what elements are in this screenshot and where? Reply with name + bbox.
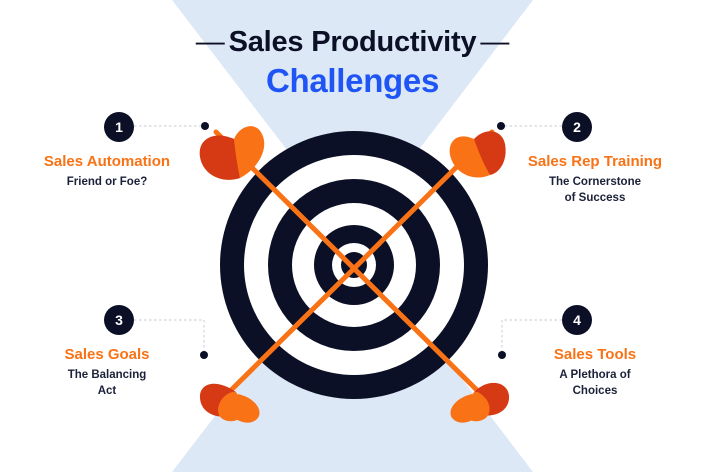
callout-title-2: Sales Rep Training — [500, 153, 690, 171]
title-dash-left: — — [192, 26, 229, 59]
callout-subtitle-4: A Plethora of Choices — [500, 368, 690, 399]
callout-title-1: Sales Automation — [12, 153, 202, 171]
title-text-sales-productivity: Sales Productivity — [229, 26, 477, 58]
callout-badge-4: 4 — [562, 305, 592, 335]
callout-sales-automation[interactable]: 1 Sales Automation Friend or Foe? — [12, 112, 202, 191]
title-text-challenges: Challenges — [0, 61, 705, 101]
callout-sales-goals[interactable]: 3 Sales Goals The Balancing Act — [12, 305, 202, 399]
callout-badge-3: 3 — [104, 305, 134, 335]
callout-badge-1: 1 — [104, 112, 134, 142]
callout-title-3: Sales Goals — [12, 346, 202, 364]
callout-subtitle-2: The Cornerstone of Success — [500, 175, 690, 206]
callout-sales-tools[interactable]: 4 Sales Tools A Plethora of Choices — [500, 305, 690, 399]
callout-subtitle-3: The Balancing Act — [12, 368, 202, 399]
callout-subtitle-1: Friend or Foe? — [12, 175, 202, 191]
title-dash-right: — — [476, 26, 513, 59]
callout-title-4: Sales Tools — [500, 346, 690, 364]
callout-sales-rep-training[interactable]: 2 Sales Rep Training The Cornerstone of … — [500, 112, 690, 206]
title-line-primary: —Sales Productivity— — [0, 26, 705, 59]
infographic-canvas: —Sales Productivity— Challenges — [0, 0, 705, 472]
page-title: —Sales Productivity— Challenges — [0, 26, 705, 101]
callout-badge-2: 2 — [562, 112, 592, 142]
connector-endpoint-dot-1 — [201, 122, 209, 130]
